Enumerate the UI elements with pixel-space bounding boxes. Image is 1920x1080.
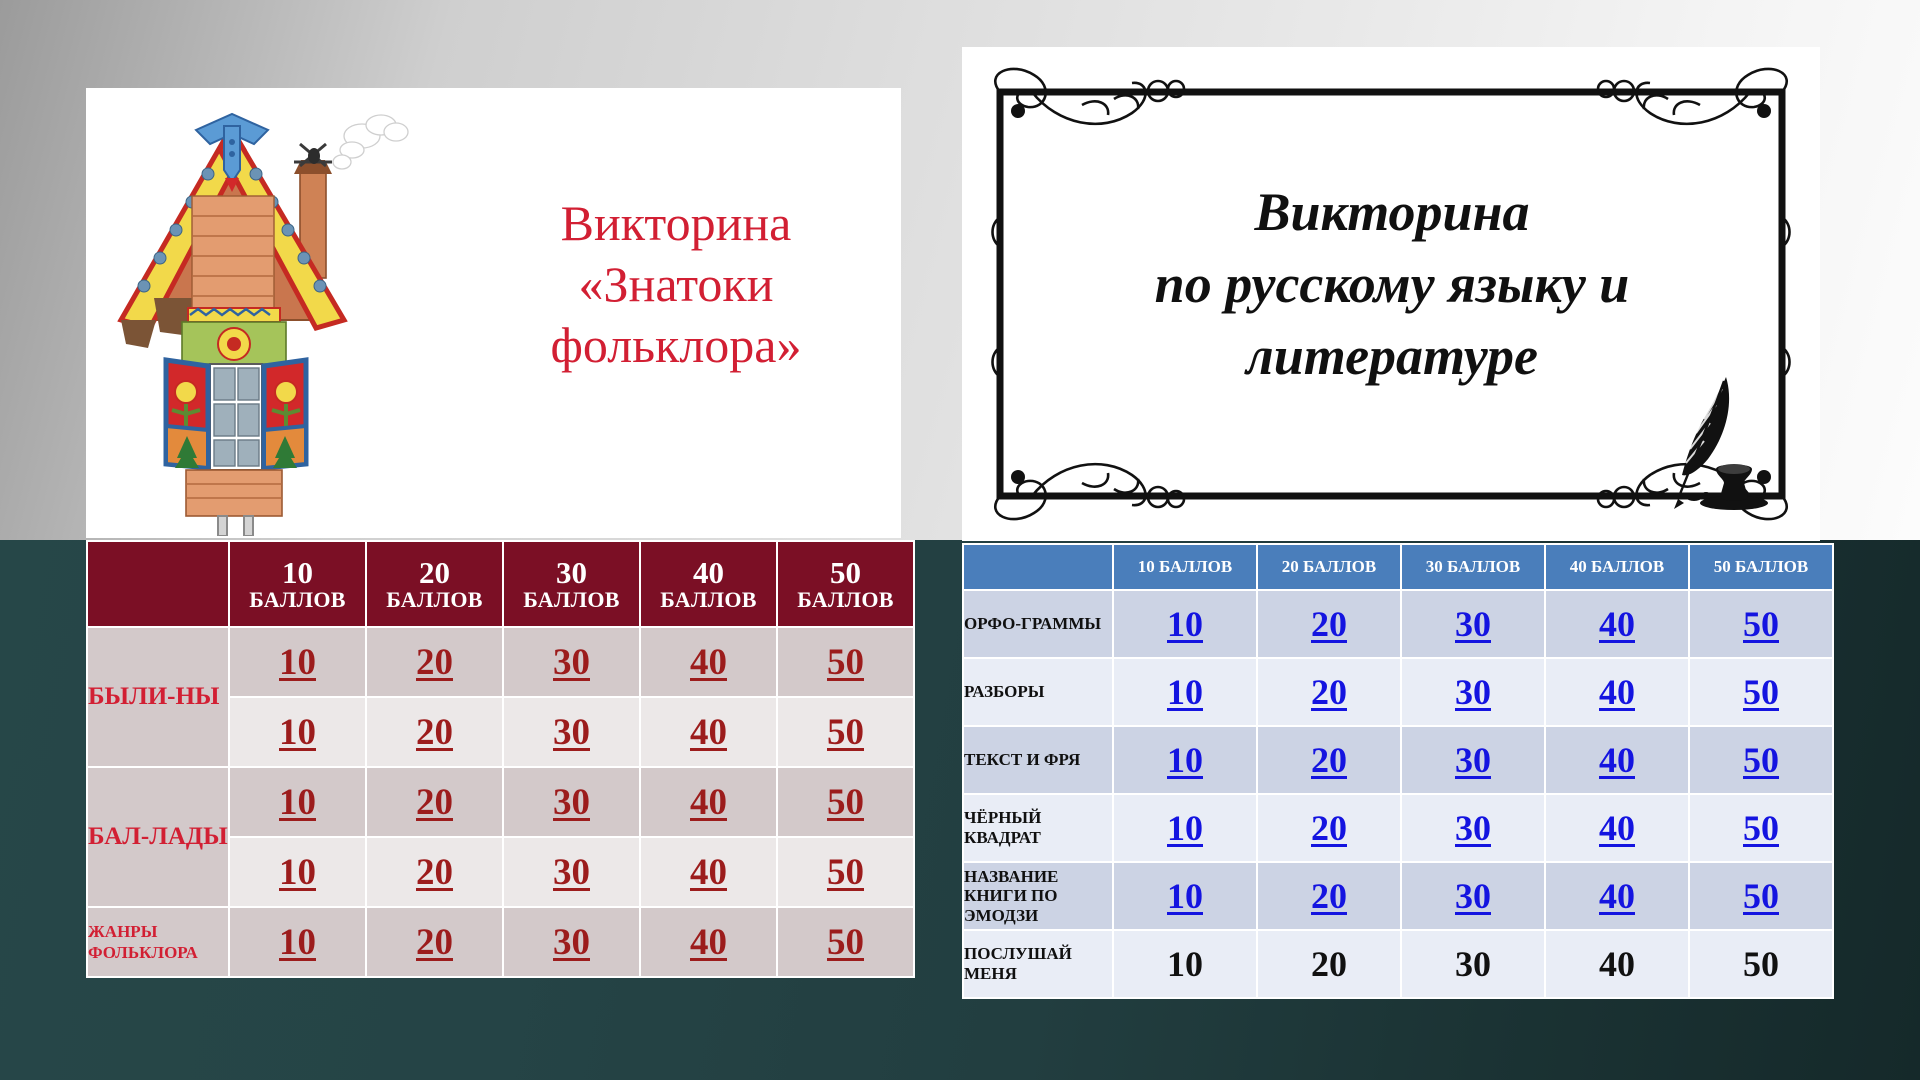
cell-razbory-40[interactable]: 40	[1546, 659, 1688, 725]
row-label-nazvanie-knigi-po-emodzi: НАЗВАНИЕ КНИГИ ПО ЭМОДЗИ	[964, 863, 1112, 929]
folklore-score-table: 10 БАЛЛОВ 20 БАЛЛОВ 30 БАЛЛОВ 40 БАЛЛОВ …	[86, 540, 915, 978]
cell-zhanry-10[interactable]: 10	[230, 908, 365, 976]
cell-poslushay-40[interactable]: 40	[1546, 931, 1688, 997]
cell-ballady2-40[interactable]: 40	[641, 838, 776, 906]
header-unit-50: БАЛЛОВ	[778, 589, 913, 611]
left-title-line-1: Викторина	[466, 193, 886, 254]
cell-orfogrammy-50[interactable]: 50	[1690, 591, 1832, 657]
cell-emodzi-50[interactable]: 50	[1690, 863, 1832, 929]
cell-emodzi-20[interactable]: 20	[1258, 863, 1400, 929]
cell-kvadrat-20[interactable]: 20	[1258, 795, 1400, 861]
cell-ballady2-50[interactable]: 50	[778, 838, 913, 906]
cell-razbory-10[interactable]: 10	[1114, 659, 1256, 725]
cell-byliny-10[interactable]: 10	[230, 628, 365, 696]
cell-emodzi-40[interactable]: 40	[1546, 863, 1688, 929]
header-col-20: 20 БАЛЛОВ	[1258, 545, 1400, 589]
cell-orfogrammy-30[interactable]: 30	[1402, 591, 1544, 657]
cell-ballady-10[interactable]: 10	[230, 768, 365, 836]
header-points-10: 10	[282, 555, 313, 590]
slide-canvas: Викторина «Знатоки фольклора» 10 БАЛЛОВ …	[0, 0, 1920, 1080]
header-unit-30: БАЛЛОВ	[504, 589, 639, 611]
header-points-50: 50	[830, 555, 861, 590]
row-label-chyorny-kvadrat: ЧЁРНЫЙ КВАДРАТ	[964, 795, 1112, 861]
quill-and-inkwell-icon	[1664, 371, 1774, 511]
cell-tekst-40[interactable]: 40	[1546, 727, 1688, 793]
table-row: ТЕКСТ И ФРЯ 10 20 30 40 50	[964, 727, 1832, 793]
cell-ballady2-20[interactable]: 20	[367, 838, 502, 906]
header-unit-20: БАЛЛОВ	[367, 589, 502, 611]
right-slide-card: Викторина по русскому языку и литературе	[962, 47, 1820, 541]
cell-kvadrat-50[interactable]: 50	[1690, 795, 1832, 861]
cell-byliny-20[interactable]: 20	[367, 628, 502, 696]
cell-kvadrat-10[interactable]: 10	[1114, 795, 1256, 861]
cell-zhanry-30[interactable]: 30	[504, 908, 639, 976]
cell-byliny-30[interactable]: 30	[504, 628, 639, 696]
cell-zhanry-20[interactable]: 20	[367, 908, 502, 976]
table-row: РАЗБОРЫ 10 20 30 40 50	[964, 659, 1832, 725]
cell-ballady-40[interactable]: 40	[641, 768, 776, 836]
header-col-10: 10 БАЛЛОВ	[230, 542, 365, 626]
cell-byliny-50[interactable]: 50	[778, 628, 913, 696]
right-slide-title: Викторина по русскому языку и литературе	[1022, 177, 1762, 392]
cell-poslushay-50[interactable]: 50	[1690, 931, 1832, 997]
cell-ballady-50[interactable]: 50	[778, 768, 913, 836]
cell-poslushay-10[interactable]: 10	[1114, 931, 1256, 997]
cell-tekst-50[interactable]: 50	[1690, 727, 1832, 793]
header-corner-cell	[964, 545, 1112, 589]
row-label-ballady: БАЛ-ЛАДЫ	[88, 768, 228, 906]
cell-kvadrat-40[interactable]: 40	[1546, 795, 1688, 861]
header-points-40: 40	[693, 555, 724, 590]
cell-byliny2-10[interactable]: 10	[230, 698, 365, 766]
header-col-10: 10 БАЛЛОВ	[1114, 545, 1256, 589]
cell-poslushay-20[interactable]: 20	[1258, 931, 1400, 997]
cell-razbory-30[interactable]: 30	[1402, 659, 1544, 725]
cell-orfogrammy-10[interactable]: 10	[1114, 591, 1256, 657]
header-unit-10: БАЛЛОВ	[230, 589, 365, 611]
row-label-razbory: РАЗБОРЫ	[964, 659, 1112, 725]
cell-poslushay-30[interactable]: 30	[1402, 931, 1544, 997]
row-label-tekst-i-frya: ТЕКСТ И ФРЯ	[964, 727, 1112, 793]
left-slide-card: Викторина «Знатоки фольклора»	[86, 88, 901, 538]
table-row: БАЛ-ЛАДЫ 10 20 30 40 50	[88, 768, 913, 836]
cell-emodzi-10[interactable]: 10	[1114, 863, 1256, 929]
cell-razbory-50[interactable]: 50	[1690, 659, 1832, 725]
header-col-50: 50 БАЛЛОВ	[778, 542, 913, 626]
table-row: ОРФО-ГРАММЫ 10 20 30 40 50	[964, 591, 1832, 657]
header-corner-cell	[88, 542, 228, 626]
row-label-poslushay-menya: ПОСЛУШАЙ МЕНЯ	[964, 931, 1112, 997]
header-col-50: 50 БАЛЛОВ	[1690, 545, 1832, 589]
cell-emodzi-30[interactable]: 30	[1402, 863, 1544, 929]
cell-ballady2-10[interactable]: 10	[230, 838, 365, 906]
header-points-30: 30	[556, 555, 587, 590]
cell-zhanry-50[interactable]: 50	[778, 908, 913, 976]
cell-tekst-20[interactable]: 20	[1258, 727, 1400, 793]
table-row: ПОСЛУШАЙ МЕНЯ 10 20 30 40 50	[964, 931, 1832, 997]
row-label-byliny: БЫЛИ-НЫ	[88, 628, 228, 766]
table-row: БЫЛИ-НЫ 10 20 30 40 50	[88, 628, 913, 696]
table-header-row: 10 БАЛЛОВ 20 БАЛЛОВ 30 БАЛЛОВ 40 БАЛЛОВ …	[88, 542, 913, 626]
table-header-row: 10 БАЛЛОВ 20 БАЛЛОВ 30 БАЛЛОВ 40 БАЛЛОВ …	[964, 545, 1832, 589]
left-title-line-3: фольклора»	[466, 315, 886, 376]
cell-kvadrat-30[interactable]: 30	[1402, 795, 1544, 861]
baba-yaga-hut-icon	[104, 92, 434, 536]
russian-language-score-table: 10 БАЛЛОВ 20 БАЛЛОВ 30 БАЛЛОВ 40 БАЛЛОВ …	[962, 543, 1834, 999]
cell-ballady-30[interactable]: 30	[504, 768, 639, 836]
cell-byliny2-30[interactable]: 30	[504, 698, 639, 766]
cell-tekst-30[interactable]: 30	[1402, 727, 1544, 793]
header-col-40: 40 БАЛЛОВ	[1546, 545, 1688, 589]
cell-orfogrammy-40[interactable]: 40	[1546, 591, 1688, 657]
cell-razbory-20[interactable]: 20	[1258, 659, 1400, 725]
cell-ballady-20[interactable]: 20	[367, 768, 502, 836]
left-slide-title: Викторина «Знатоки фольклора»	[466, 193, 886, 376]
cell-ballady2-30[interactable]: 30	[504, 838, 639, 906]
cell-orfogrammy-20[interactable]: 20	[1258, 591, 1400, 657]
right-title-line-3: литературе	[1022, 321, 1762, 393]
cell-tekst-10[interactable]: 10	[1114, 727, 1256, 793]
cell-byliny-40[interactable]: 40	[641, 628, 776, 696]
left-title-line-2: «Знатоки	[466, 254, 886, 315]
cell-byliny2-50[interactable]: 50	[778, 698, 913, 766]
header-points-20: 20	[419, 555, 450, 590]
table-row: НАЗВАНИЕ КНИГИ ПО ЭМОДЗИ 10 20 30 40 50	[964, 863, 1832, 929]
row-label-orfogrammy: ОРФО-ГРАММЫ	[964, 591, 1112, 657]
header-col-30: 30 БАЛЛОВ	[1402, 545, 1544, 589]
table-row: ЖАНРЫ ФОЛЬКЛОРА 10 20 30 40 50	[88, 908, 913, 976]
cell-zhanry-40[interactable]: 40	[641, 908, 776, 976]
table-row: ЧЁРНЫЙ КВАДРАТ 10 20 30 40 50	[964, 795, 1832, 861]
cell-byliny2-20[interactable]: 20	[367, 698, 502, 766]
header-unit-40: БАЛЛОВ	[641, 589, 776, 611]
right-title-line-2: по русскому языку и	[1022, 249, 1762, 321]
row-label-zhanry-folklora: ЖАНРЫ ФОЛЬКЛОРА	[88, 908, 228, 976]
right-title-line-1: Викторина	[1022, 177, 1762, 249]
header-col-40: 40 БАЛЛОВ	[641, 542, 776, 626]
header-col-30: 30 БАЛЛОВ	[504, 542, 639, 626]
cell-byliny2-40[interactable]: 40	[641, 698, 776, 766]
header-col-20: 20 БАЛЛОВ	[367, 542, 502, 626]
